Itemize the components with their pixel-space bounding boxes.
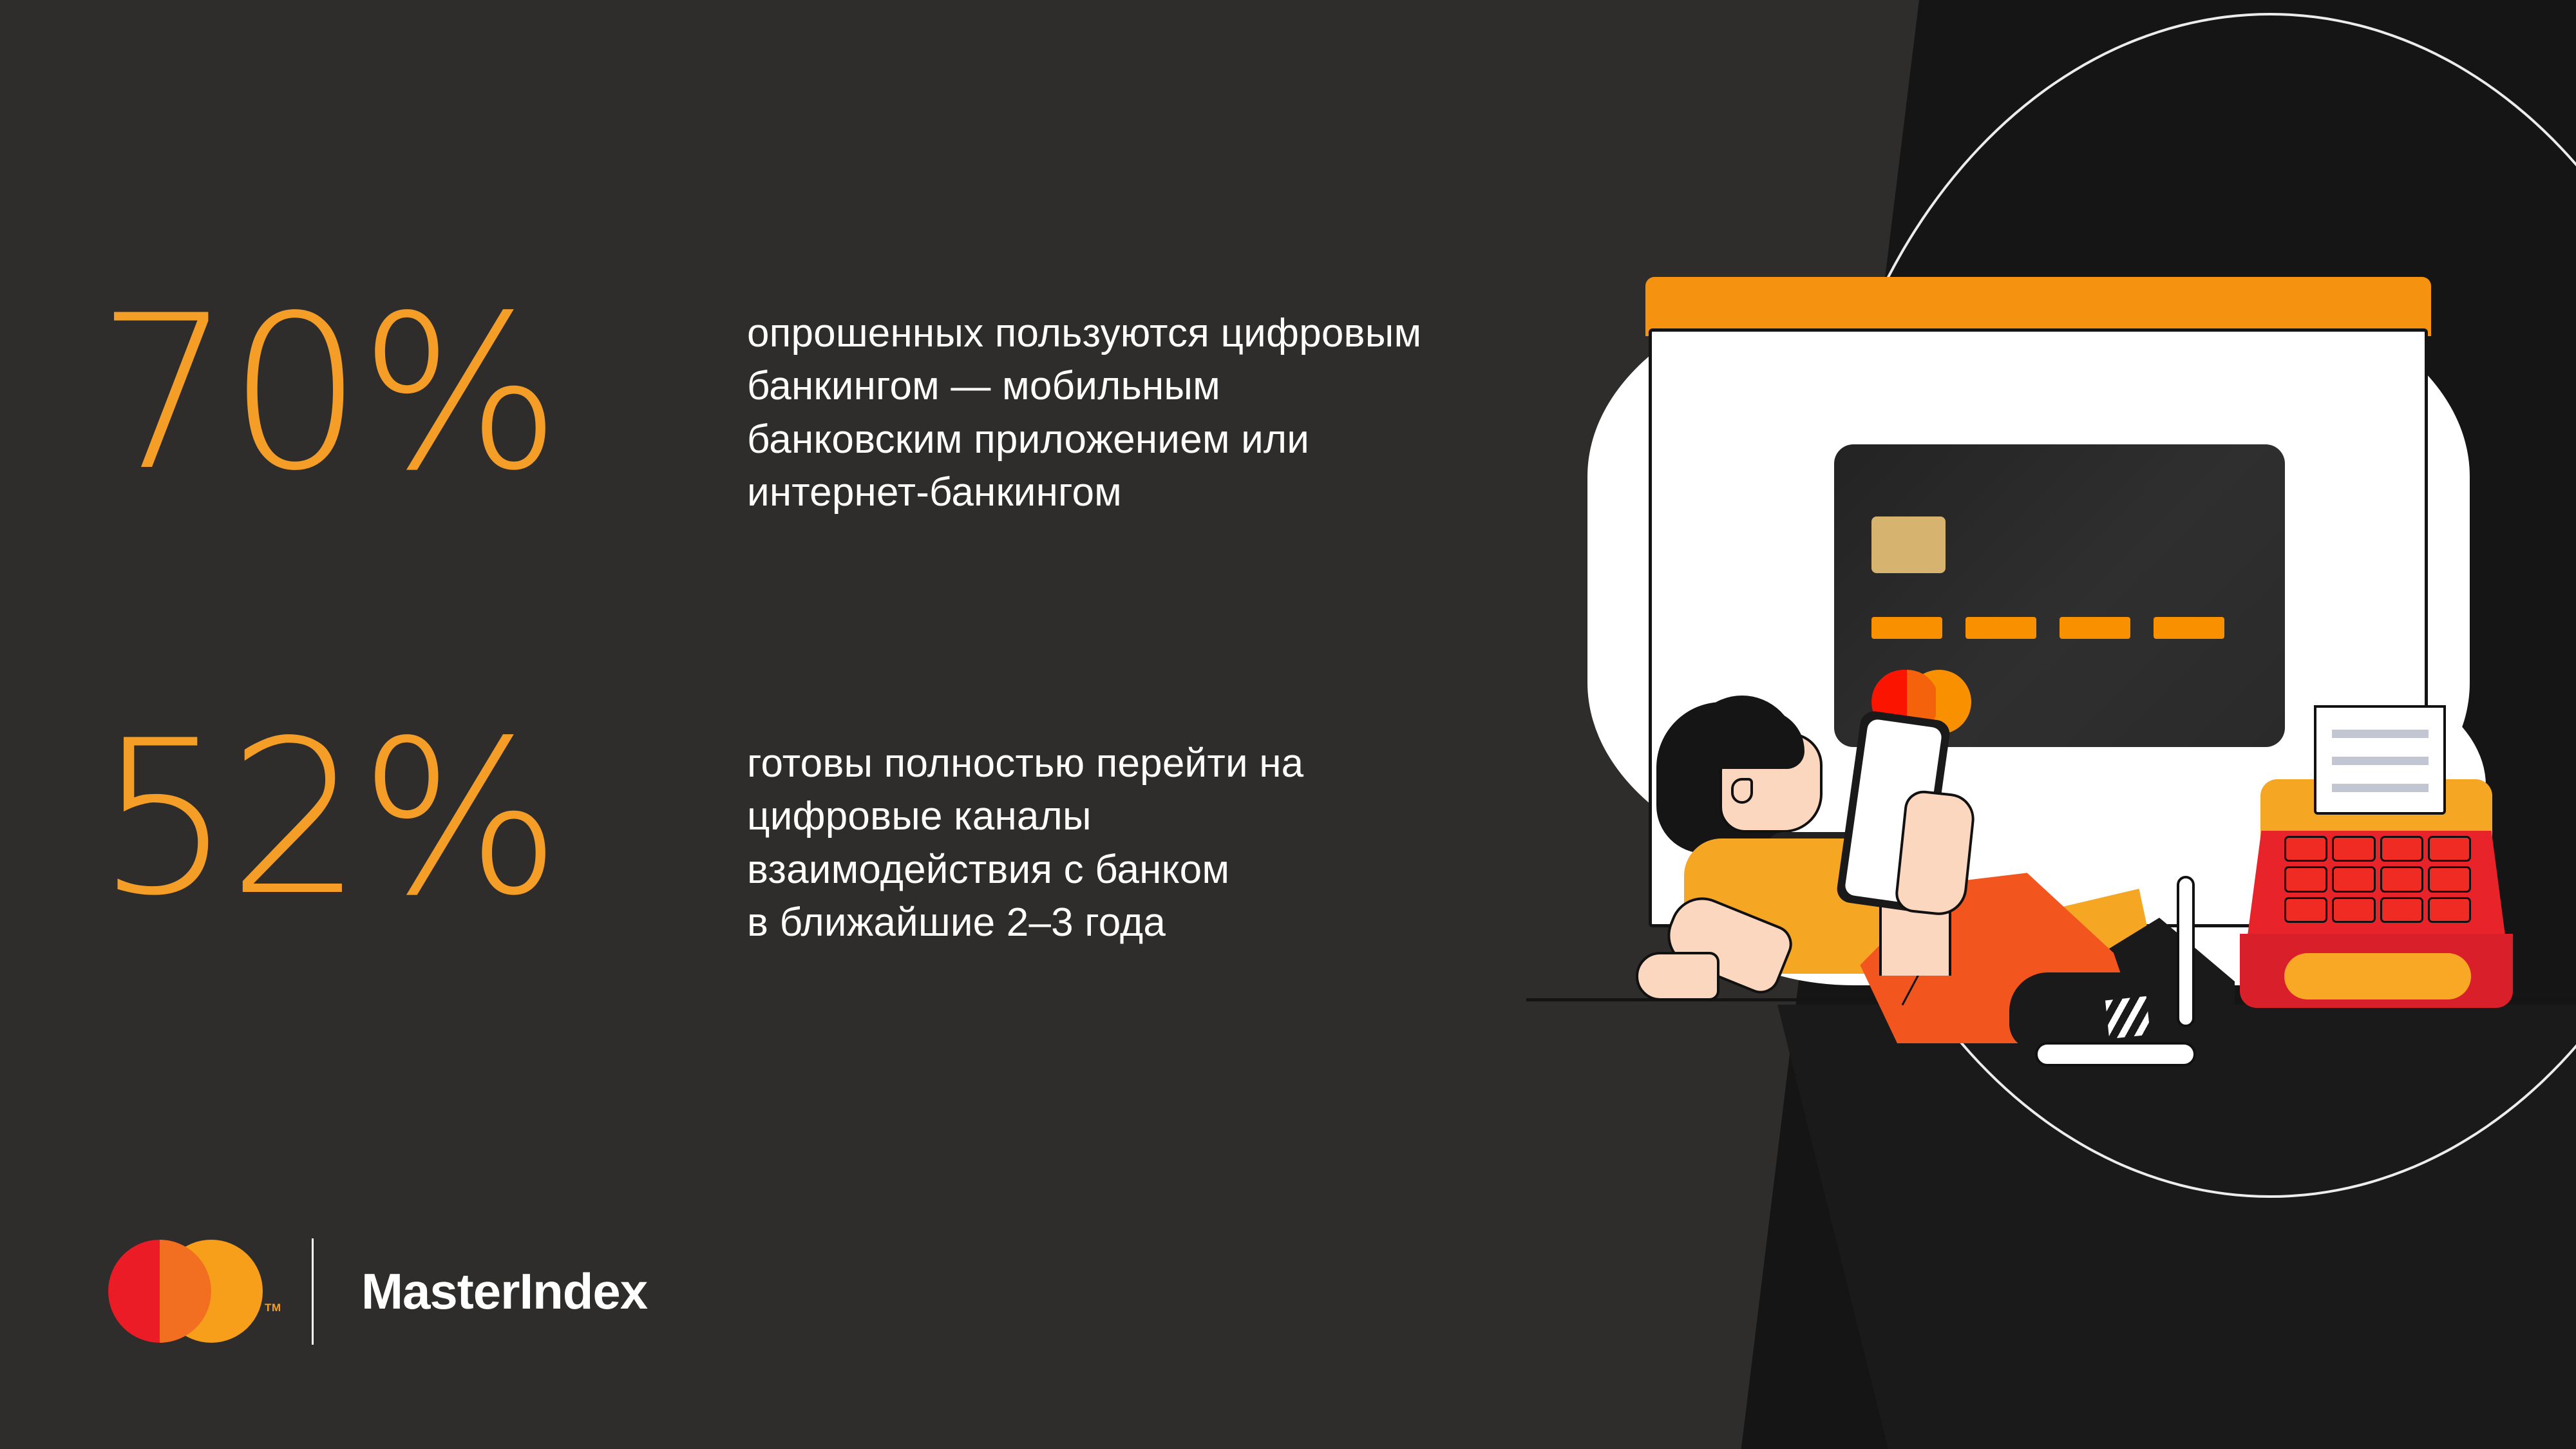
terminal-key (2428, 836, 2471, 862)
terminal-key (2428, 897, 2471, 923)
terminal-key (2428, 866, 2471, 892)
trademark-mark: TM (265, 1302, 281, 1314)
terminal-key (2380, 836, 2423, 862)
shoe-stripes (2105, 996, 2150, 1039)
card-number-group (1965, 617, 2036, 639)
terminal-action-button (2284, 953, 2471, 999)
receipt-line (2332, 730, 2429, 738)
terminal-key (2380, 866, 2423, 892)
stat-percent-2: 52% (97, 718, 747, 920)
vertical-bar (2177, 876, 2195, 1027)
stats-column: 70% опрошенных пользуются цифровым банки… (0, 0, 1546, 1449)
hand-on-ground (1636, 952, 1719, 1001)
shoe-sole (2035, 1042, 2196, 1066)
person-illustration (1649, 696, 2293, 1043)
receipt-line (2332, 757, 2429, 765)
card-number-group (1871, 617, 1942, 639)
receipt-line (2332, 784, 2429, 792)
brand-wordmark: MasterIndex (361, 1262, 647, 1321)
logo-divider (312, 1238, 314, 1345)
terminal-key (2332, 836, 2375, 862)
card-number-groups (1871, 617, 2224, 639)
card-chip-icon (1871, 516, 1946, 573)
mastercard-logo-icon: TM (108, 1240, 263, 1343)
receipt-icon (2314, 705, 2446, 815)
brand-lockup: TM MasterIndex (108, 1224, 647, 1359)
stat-percent-1: 70% (97, 293, 747, 495)
terminal-key (2332, 897, 2375, 923)
illustration (1533, 97, 2576, 1256)
terminal-keypad (2284, 836, 2471, 923)
terminal-key (2380, 897, 2423, 923)
card-number-group (2060, 617, 2130, 639)
stat-block-1: 70% опрошенных пользуются цифровым банки… (97, 293, 1421, 520)
infographic-canvas: 70% опрошенных пользуются цифровым банки… (0, 0, 2576, 1449)
terminal-key (2332, 866, 2375, 892)
stat-description-1: опрошенных пользуются цифровым банкингом… (747, 293, 1421, 520)
card-number-group (2154, 617, 2224, 639)
hand-holding-phone (1893, 789, 1976, 918)
ear-icon (1731, 778, 1753, 804)
stat-block-2: 52% готовы полностью перейти на цифровые… (97, 718, 1303, 950)
panel-header-bar (1645, 277, 2431, 336)
stat-description-2: готовы полностью перейти на цифровые кан… (747, 718, 1303, 950)
